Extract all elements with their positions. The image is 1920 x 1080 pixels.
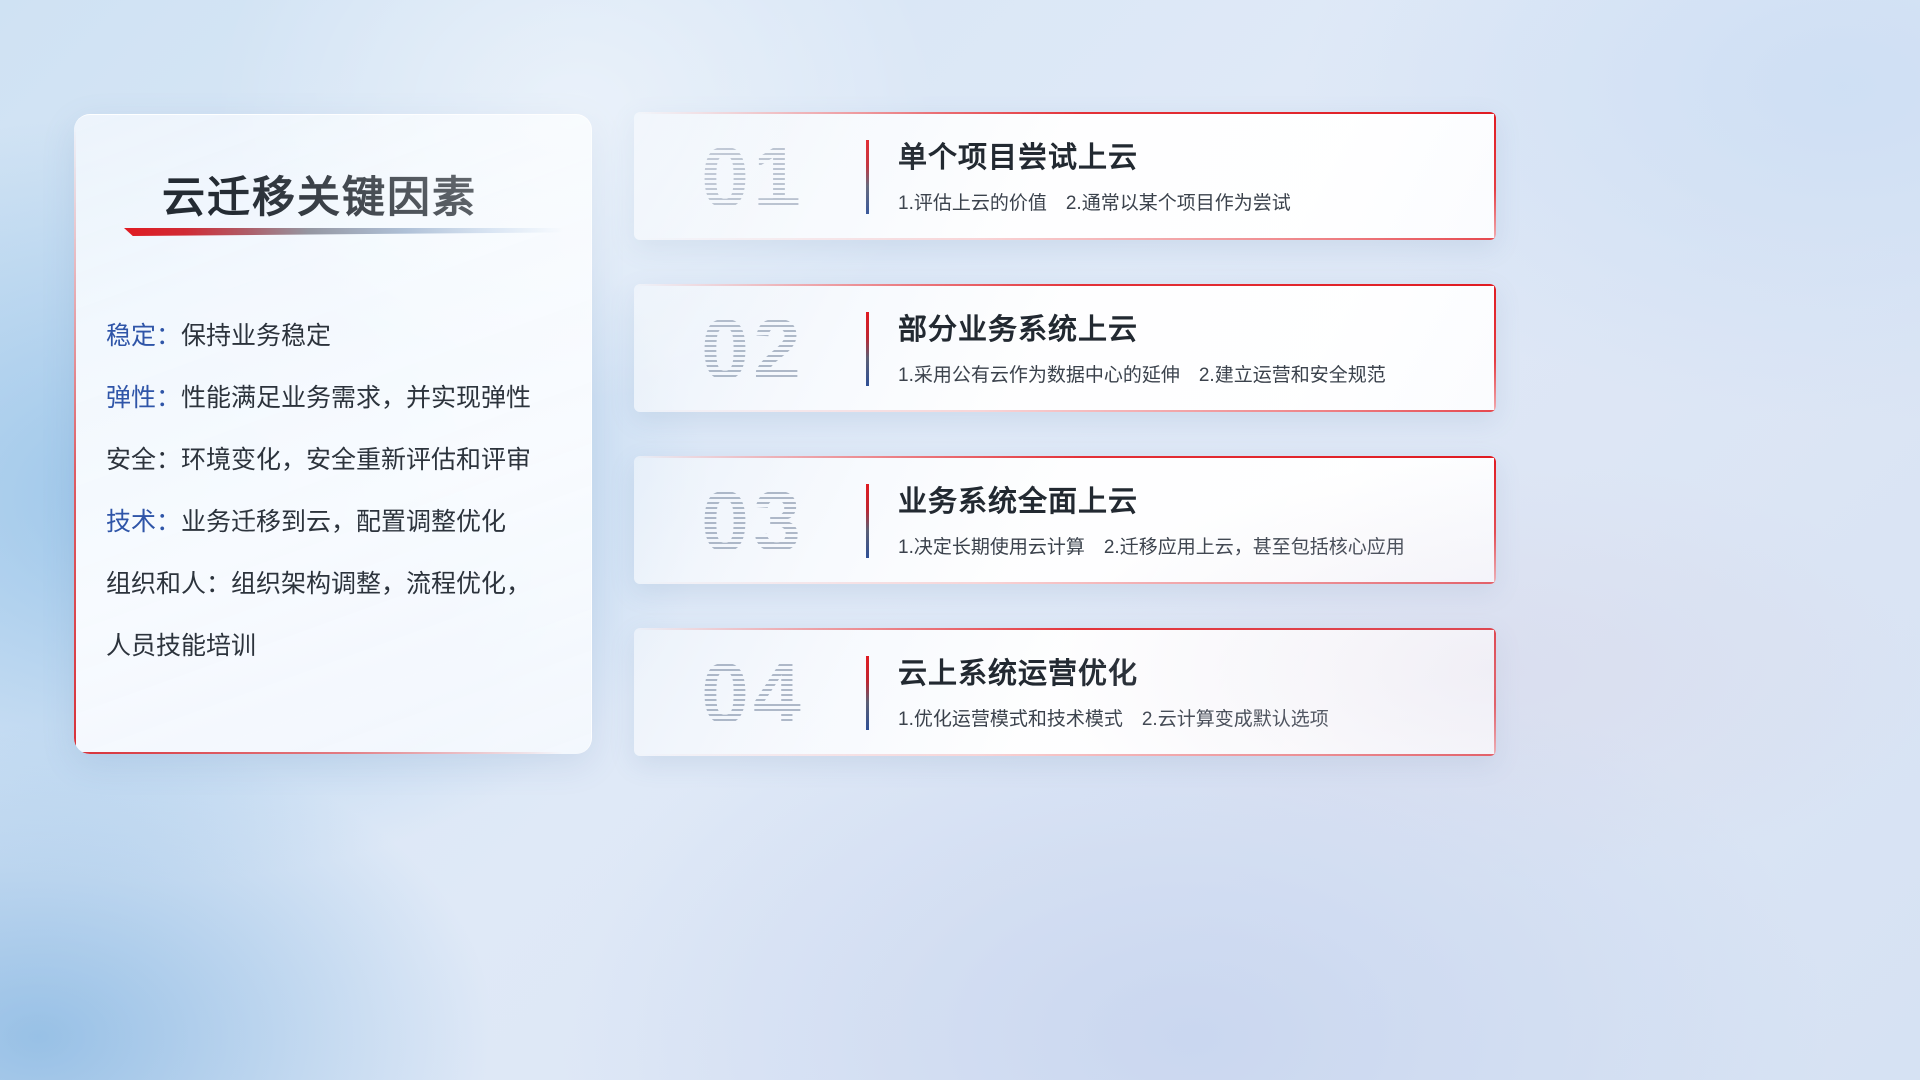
card-subtitle: 1.评估上云的价值 2.通常以某个项目作为尝试 bbox=[898, 188, 1291, 215]
list-item: 人员技能培训 bbox=[106, 615, 573, 677]
step-number: 03 bbox=[658, 472, 848, 572]
card-right-accent bbox=[1494, 456, 1496, 584]
card-top-accent bbox=[634, 112, 1496, 114]
card-title: 云上系统运营优化 bbox=[898, 650, 1138, 692]
card-title: 部分业务系统上云 bbox=[898, 306, 1138, 348]
card-bottom-accent bbox=[634, 582, 1496, 584]
card-subtitle: 1.采用公有云作为数据中心的延伸 2.建立运营和安全规范 bbox=[898, 360, 1386, 387]
slide-canvas: 云迁移关键因素 稳定：保持业务稳定 弹性：性能满足业务需求，并实现弹性 安全：环… bbox=[0, 0, 1920, 1080]
step-number: 04 bbox=[658, 644, 848, 744]
key-factors-panel: 云迁移关键因素 稳定：保持业务稳定 弹性：性能满足业务需求，并实现弹性 安全：环… bbox=[74, 114, 592, 754]
factor-label: 技术： bbox=[106, 508, 181, 536]
list-item: 弹性：性能满足业务需求，并实现弹性 bbox=[106, 367, 573, 429]
card-top-accent bbox=[634, 628, 1496, 630]
panel-left-accent-bar bbox=[74, 125, 76, 754]
list-item: 稳定：保持业务稳定 bbox=[106, 305, 573, 367]
factor-label: 组织和人： bbox=[106, 570, 231, 598]
card-top-accent bbox=[634, 456, 1496, 458]
card-right-accent bbox=[1494, 284, 1496, 412]
card-right-accent bbox=[1494, 112, 1496, 240]
card-divider-bar bbox=[866, 312, 869, 386]
factor-text: 保持业务稳定 bbox=[181, 322, 331, 350]
stage-card-03[interactable]: 03 业务系统全面上云 1.决定长期使用云计算 2.迁移应用上云，甚至包括核心应… bbox=[634, 456, 1496, 584]
card-bottom-accent bbox=[634, 238, 1496, 240]
stage-card-04[interactable]: 04 云上系统运营优化 1.优化运营模式和技术模式 2.云计算变成默认选项 bbox=[634, 628, 1496, 756]
stage-card-01[interactable]: 01 单个项目尝试上云 1.评估上云的价值 2.通常以某个项目作为尝试 bbox=[634, 112, 1496, 240]
step-number: 02 bbox=[658, 300, 848, 400]
factor-text: 组织架构调整，流程优化， bbox=[231, 570, 531, 598]
card-divider-bar bbox=[866, 484, 869, 558]
factor-list: 稳定：保持业务稳定 弹性：性能满足业务需求，并实现弹性 安全：环境变化，安全重新… bbox=[106, 305, 573, 677]
stage-card-02[interactable]: 02 部分业务系统上云 1.采用公有云作为数据中心的延伸 2.建立运营和安全规范 bbox=[634, 284, 1496, 412]
factor-label: 弹性： bbox=[106, 384, 181, 412]
stage-card-list: 01 单个项目尝试上云 1.评估上云的价值 2.通常以某个项目作为尝试 02 部… bbox=[634, 112, 1496, 800]
page-title: 云迁移关键因素 bbox=[162, 163, 477, 225]
list-item: 安全：环境变化，安全重新评估和评审 bbox=[106, 429, 573, 491]
list-item: 组织和人：组织架构调整，流程优化， bbox=[106, 553, 573, 615]
card-top-accent bbox=[634, 284, 1496, 286]
panel-bottom-accent-bar bbox=[74, 752, 563, 754]
card-right-accent bbox=[1494, 628, 1496, 756]
card-bottom-accent bbox=[634, 410, 1496, 412]
card-divider-bar bbox=[866, 140, 869, 214]
card-title: 业务系统全面上云 bbox=[898, 478, 1138, 520]
list-item: 技术：业务迁移到云，配置调整优化 bbox=[106, 491, 573, 553]
card-subtitle: 1.优化运营模式和技术模式 2.云计算变成默认选项 bbox=[898, 704, 1329, 731]
factor-text: 业务迁移到云，配置调整优化 bbox=[181, 508, 506, 536]
factor-label: 稳定： bbox=[106, 322, 181, 350]
card-divider-bar bbox=[866, 656, 869, 730]
title-underline-gradient bbox=[124, 228, 564, 236]
factor-text: 性能满足业务需求，并实现弹性 bbox=[181, 384, 531, 412]
factor-text: 环境变化，安全重新评估和评审 bbox=[181, 446, 531, 474]
card-bottom-accent bbox=[634, 754, 1496, 756]
card-title: 单个项目尝试上云 bbox=[898, 134, 1138, 176]
card-subtitle: 1.决定长期使用云计算 2.迁移应用上云，甚至包括核心应用 bbox=[898, 532, 1405, 559]
step-number: 01 bbox=[658, 128, 848, 228]
factor-text: 人员技能培训 bbox=[106, 632, 256, 660]
factor-label: 安全： bbox=[106, 446, 181, 474]
